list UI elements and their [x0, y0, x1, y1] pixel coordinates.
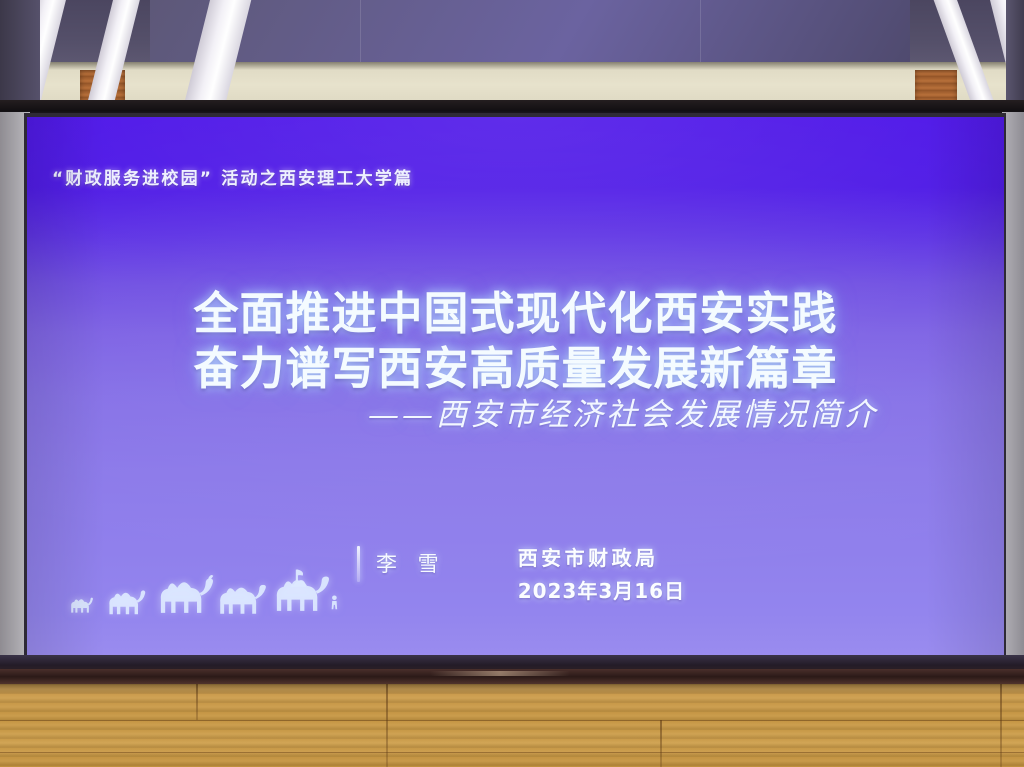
slide-credits: 李 雪 西安市财政局 2023年3月16日: [357, 542, 685, 604]
slide-subtitle: ——西安市经济社会发展情况简介: [27, 389, 1004, 434]
wood-panel-seam: [660, 720, 662, 767]
photo-of-presentation-screen: “财政服务进校园” 活动之西安理工大学篇 全面推进中国式现代化西安实践 奋力谱写…: [0, 0, 1024, 767]
slide-kicker: “财政服务进校园” 活动之西安理工大学篇: [52, 164, 413, 189]
wood-panel-seam: [386, 684, 388, 767]
ceiling-corner-right: [1006, 0, 1024, 108]
ceiling-corner-left: [0, 0, 40, 108]
wood-plank-line: [0, 752, 1024, 753]
upper-wall-shadow: [0, 62, 1024, 70]
presenter-name: 李 雪: [376, 548, 446, 578]
wood-plank-line: [0, 720, 1024, 721]
wood-panel-seam: [1000, 684, 1002, 767]
stage-rail-highlight: [430, 671, 570, 676]
presentation-date: 2023年3月16日: [518, 575, 685, 604]
ceiling-panel: [150, 0, 910, 70]
credit-divider: [357, 546, 360, 582]
slide-title: 全面推进中国式现代化西安实践 奋力谱写西安高质量发展新篇章: [27, 287, 1004, 397]
camel-caravan-icon: [62, 565, 342, 625]
organization-name: 西安市财政局: [518, 542, 685, 571]
ceiling: [0, 0, 1024, 108]
wooden-stage-front: [0, 684, 1024, 767]
wood-top-shadow: [0, 684, 1024, 694]
projection-screen: “财政服务进校园” 活动之西安理工大学篇 全面推进中国式现代化西安实践 奋力谱写…: [27, 117, 1004, 657]
organization-block: 西安市财政局 2023年3月16日: [518, 542, 685, 604]
slide-title-line-1: 全面推进中国式现代化西安实践: [27, 287, 1004, 342]
